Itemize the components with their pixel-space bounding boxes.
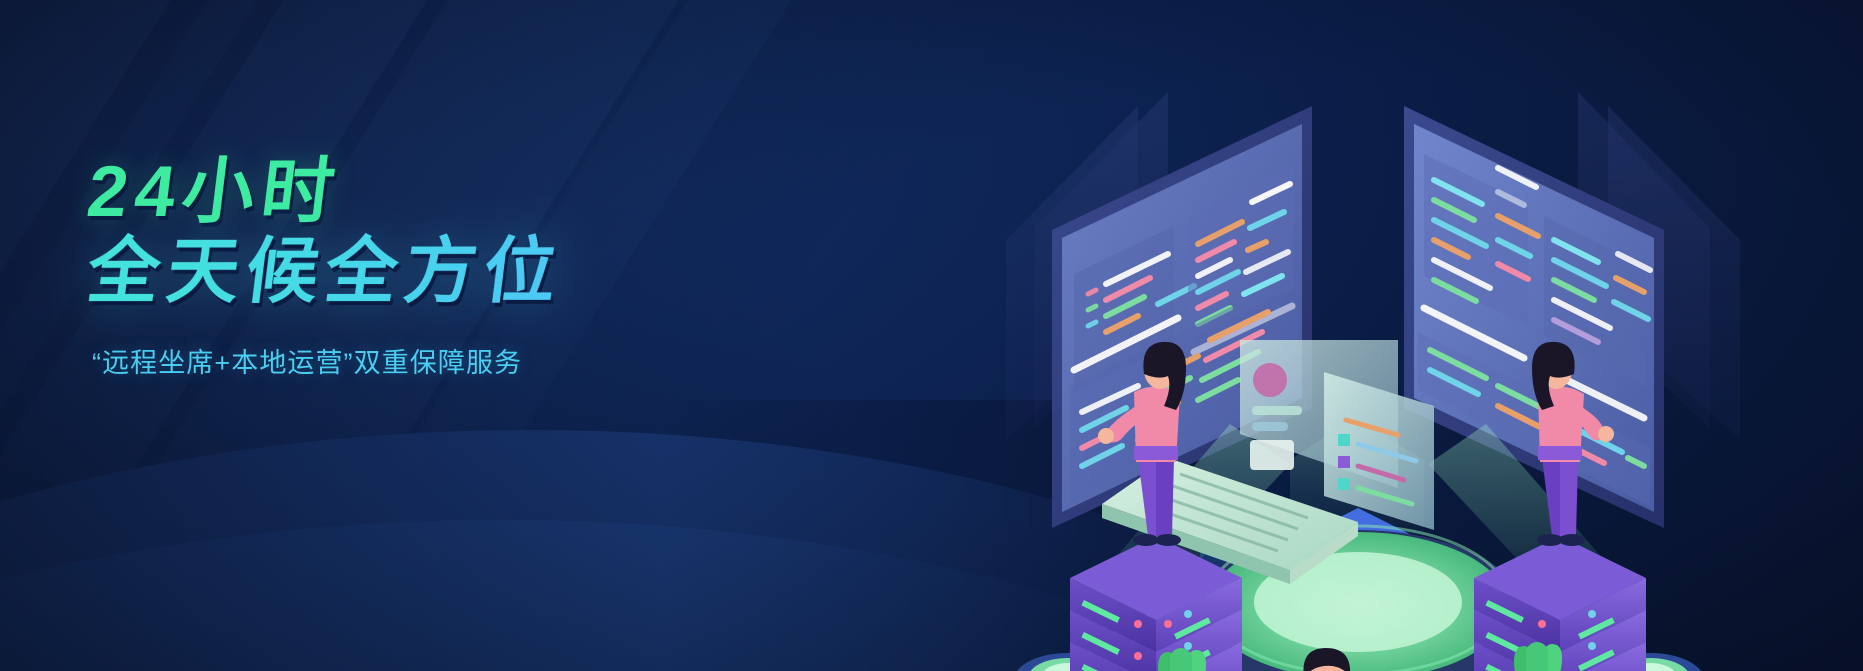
headline-block: 24小时 全天候全方位 “远程坐席+本地运营”双重保障服务 xyxy=(88,150,728,382)
page-title: 24小时 全天候全方位 xyxy=(88,150,728,314)
diagonal-stripe xyxy=(0,0,20,671)
isometric-illustration xyxy=(838,0,1863,671)
headline-line-2: 全天候全方位 xyxy=(83,230,733,314)
hero-banner: 24小时 全天候全方位 “远程坐席+本地运营”双重保障服务 xyxy=(0,0,1863,671)
headline-line-1: 24小时 xyxy=(83,150,733,234)
subheadline: “远程坐席+本地运营”双重保障服务 xyxy=(92,344,728,382)
